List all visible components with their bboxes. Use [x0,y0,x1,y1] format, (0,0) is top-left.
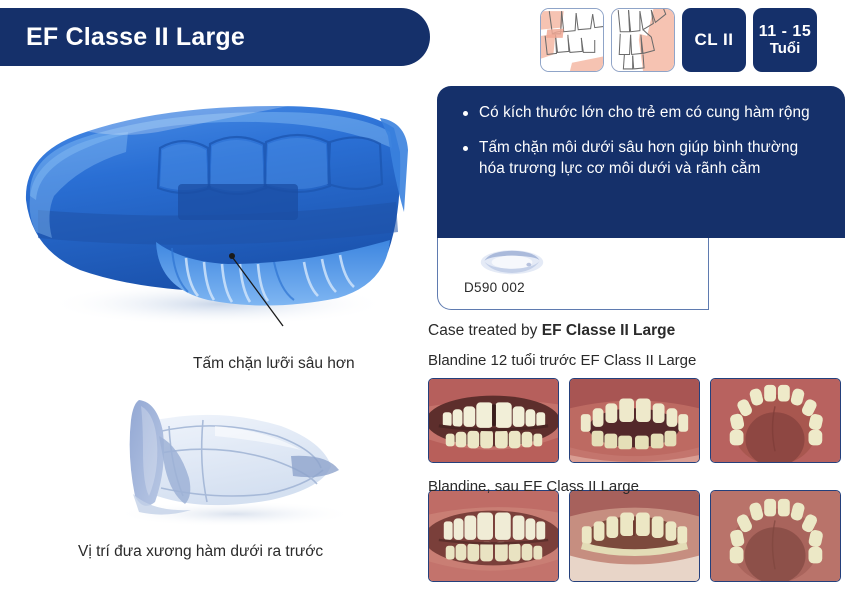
feature-item: Tấm chặn môi dưới sâu hơn giúp bình thườ… [463,137,823,180]
bullet-dot-icon [463,146,468,151]
caption-after-treatment: Blandine, sau EF Class II Large [428,478,639,495]
product-thumbnail-icon [476,244,548,278]
tooth-diagram-class2-incisor-icon [611,8,675,72]
intraoral-openbite-after-photo [569,490,700,582]
intraoral-occlusal-after-photo [710,490,841,582]
product-sheet: EF Classe II Large [0,0,845,600]
case-heading-product: EF Classe II Large [542,322,676,339]
badge-age-range-unit: Tuổi [770,41,801,58]
intraoral-openbite-before-photo [569,378,700,463]
intraoral-occlusal-before-photo [710,378,841,463]
page-title: EF Classe II Large [26,23,245,52]
product-code-card: D590 002 [437,238,709,310]
badge-age-range-numbers: 11 - 15 [759,23,811,41]
feature-item: Có kích thước lớn cho trẻ em có cung hàm… [463,102,823,124]
features-panel: Có kích thước lớn cho trẻ em có cung hàm… [437,86,845,238]
feature-text: Tấm chặn môi dưới sâu hơn giúp bình thườ… [479,137,823,180]
appliance-photo-blue [8,92,420,324]
photo-row-after [428,490,842,582]
caption-mandible-position: Vị trí đưa xương hàm dưới ra trước [78,543,323,561]
badge-classification-label: CL II [694,30,733,49]
case-heading: Case treated by EF Classe II Large [428,322,675,340]
caption-tongue-shield: Tấm chặn lưỡi sâu hơn [193,355,355,373]
bullet-dot-icon [463,111,468,116]
intraoral-frontal-before-photo [428,378,559,463]
appliance-photo-clear [95,392,370,527]
badge-age-range: 11 - 15 Tuổi [753,8,817,72]
product-code-label: D590 002 [464,280,708,295]
tooth-diagram-class2-molar-icon [540,8,604,72]
intraoral-frontal-after-photo [428,490,559,582]
case-heading-prefix: Case treated by [428,322,542,339]
badge-row: CL II 11 - 15 Tuổi [540,8,817,72]
badge-classification: CL II [682,8,746,72]
feature-text: Có kích thước lớn cho trẻ em có cung hàm… [479,102,810,124]
title-bar: EF Classe II Large [0,8,430,66]
caption-before-treatment: Blandine 12 tuổi trước EF Class II Large [428,352,696,369]
photo-row-before [428,378,842,463]
